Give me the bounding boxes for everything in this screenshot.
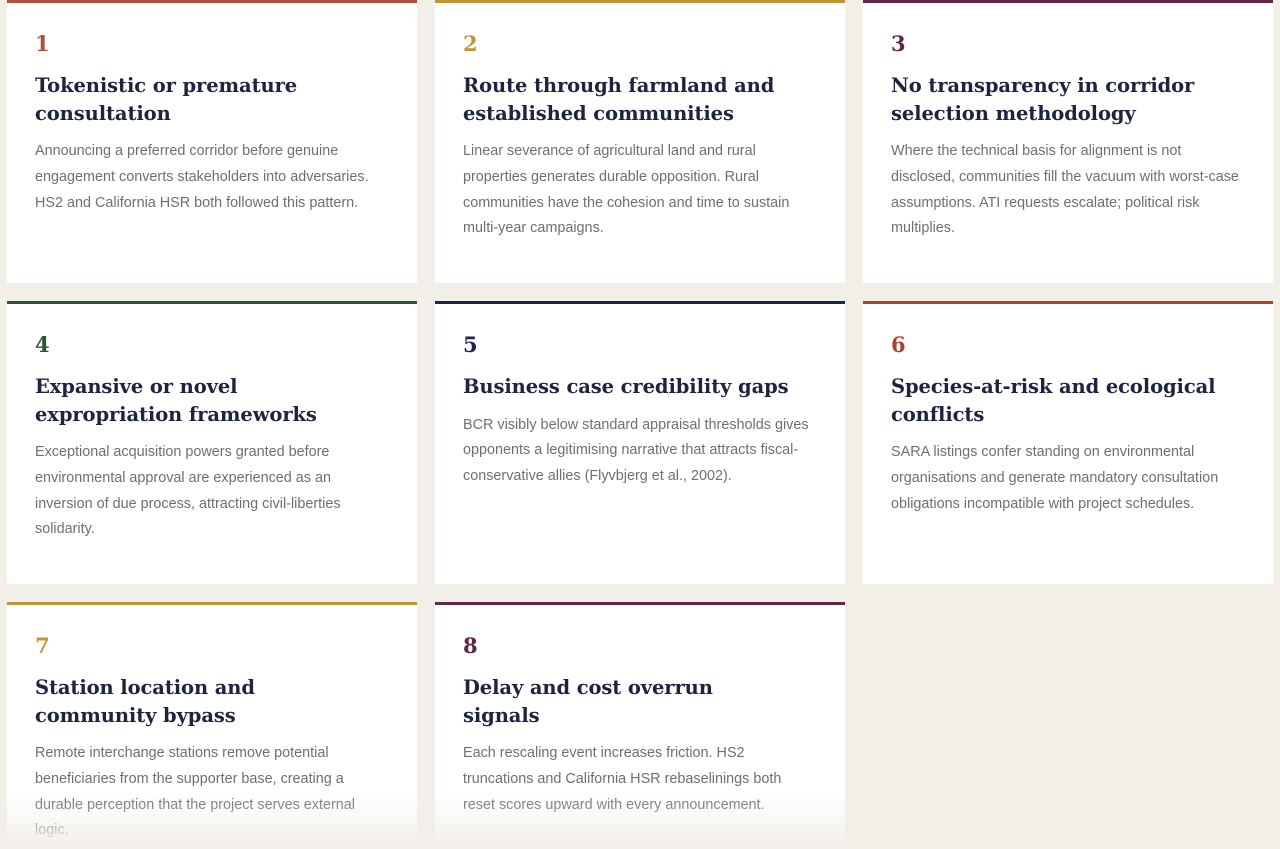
risk-factor-card[interactable]: 8 Delay and cost overrun signals Each re… bbox=[435, 602, 845, 849]
card-number: 5 bbox=[463, 334, 817, 355]
risk-factor-card[interactable]: 7 Station location and community bypass … bbox=[7, 602, 417, 849]
card-body: Announcing a preferred corridor before g… bbox=[35, 139, 389, 216]
risk-factor-card-board: 1 Tokenistic or premature consultation A… bbox=[0, 0, 1280, 849]
risk-factor-card[interactable]: 4 Expansive or novel expropriation frame… bbox=[7, 301, 417, 584]
card-body: Remote interchange stations remove poten… bbox=[35, 741, 389, 844]
card-title: Delay and cost overrun signals bbox=[463, 674, 793, 729]
card-number: 3 bbox=[891, 33, 1245, 54]
card-number: 1 bbox=[35, 33, 389, 54]
card-body: Linear severance of agricultural land an… bbox=[463, 139, 817, 242]
risk-factor-card[interactable]: 6 Species-at-risk and ecological conflic… bbox=[863, 301, 1273, 584]
card-number: 6 bbox=[891, 334, 1245, 355]
card-body: Exceptional acquisition powers granted b… bbox=[35, 440, 389, 543]
card-title: Station location and community bypass bbox=[35, 674, 365, 729]
risk-factor-card-grid: 1 Tokenistic or premature consultation A… bbox=[7, 0, 1273, 849]
risk-factor-card[interactable]: 2 Route through farmland and established… bbox=[435, 0, 845, 283]
card-title: Species-at-risk and ecological conflicts bbox=[891, 373, 1221, 428]
card-title: No transparency in corridor selection me… bbox=[891, 72, 1221, 127]
card-number: 8 bbox=[463, 635, 817, 656]
card-title: Expansive or novel expropriation framewo… bbox=[35, 373, 365, 428]
card-body: BCR visibly below standard appraisal thr… bbox=[463, 413, 817, 490]
card-number: 7 bbox=[35, 635, 389, 656]
card-title: Business case credibility gaps bbox=[463, 373, 793, 401]
card-title: Route through farmland and established c… bbox=[463, 72, 793, 127]
card-title: Tokenistic or premature consultation bbox=[35, 72, 365, 127]
risk-factor-card[interactable]: 5 Business case credibility gaps BCR vis… bbox=[435, 301, 845, 584]
risk-factor-card[interactable]: 1 Tokenistic or premature consultation A… bbox=[7, 0, 417, 283]
card-number: 4 bbox=[35, 334, 389, 355]
risk-factor-card[interactable]: 3 No transparency in corridor selection … bbox=[863, 0, 1273, 283]
card-number: 2 bbox=[463, 33, 817, 54]
card-body: Where the technical basis for alignment … bbox=[891, 139, 1245, 242]
card-body: SARA listings confer standing on environ… bbox=[891, 440, 1245, 517]
card-body: Each rescaling event increases friction.… bbox=[463, 741, 817, 818]
